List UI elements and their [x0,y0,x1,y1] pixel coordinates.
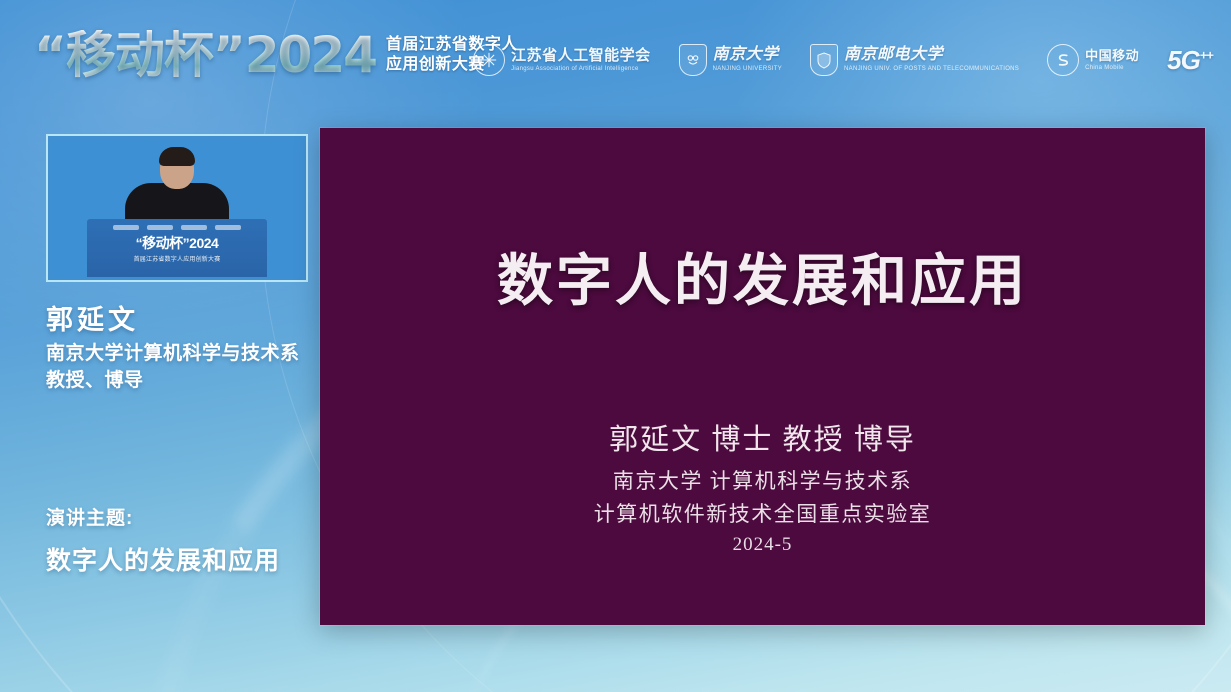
sponsor-name-en: NANJING UNIV. OF POSTS AND TELECOMMUNICA… [844,66,1019,72]
event-year: 2024 [245,26,376,84]
speaker-panel: “移动杯”2024 首届江苏省数字人应用创新大赛 郭延文 南京大学计算机科学与技… [0,118,318,692]
sponsor-name-cn: 江苏省人工智能学会 [511,48,651,64]
snowflake-emblem-icon [473,44,505,76]
podium-logo-1 [113,225,139,230]
china-mobile-icon [1047,44,1079,76]
slide-affiliation: 南京大学 计算机科学与技术系 计算机软件新技术全国重点实验室 [320,465,1205,531]
sponsor-name-en: Jiangsu Association of Artificial Intell… [511,66,651,72]
event-title-quoted: “移动杯” [34,26,245,84]
event-logo: “移动杯”2024 首届江苏省数字人 应用创新大赛 [34,30,518,80]
slide-affiliation-line2: 计算机软件新技术全国重点实验室 [320,498,1205,531]
sponsor-nanjing-university: 南京大学 NANJING UNIVERSITY [679,44,782,76]
podium-logo-3 [181,225,207,230]
sponsor-jiangsu-ai-association: 江苏省人工智能学会 Jiangsu Association of Artific… [473,44,651,76]
event-title-logo: “移动杯”2024 [34,30,376,80]
sponsor-china-mobile: 中国移动 China Mobile [1047,44,1139,76]
speaker-video-thumbnail[interactable]: “移动杯”2024 首届江苏省数字人应用创新大赛 [46,134,308,282]
nju-shield-icon [679,44,707,76]
event-header: “移动杯”2024 首届江苏省数字人 应用创新大赛 [0,0,1231,118]
podium-event-subtitle: 首届江苏省数字人应用创新大赛 [87,254,267,263]
presentation-stage: “移动杯”2024 首届江苏省数字人 应用创新大赛 [0,0,1231,692]
5g-logo: 5G++ [1167,45,1213,76]
speaker-video-content: “移动杯”2024 首届江苏省数字人应用创新大赛 [51,139,303,277]
podium-logo-strip [87,225,267,230]
presentation-slide[interactable]: 数字人的发展和应用 郭延文 博士 教授 博导 南京大学 计算机科学与技术系 计算… [320,128,1205,625]
podium-event-title: “移动杯”2024 [87,236,267,250]
speaker-hair [159,147,195,166]
5g-label: 5G [1167,45,1200,75]
sponsor-name-en: China Mobile [1085,65,1139,71]
slide-byline: 郭延文 博士 教授 博导 [320,416,1205,458]
slide-title: 数字人的发展和应用 [320,236,1205,317]
podium-logo-4 [215,225,241,230]
topic-label: 演讲主题: [46,503,133,530]
slide-date: 2024-5 [320,534,1205,556]
njupt-crest-icon [810,44,838,76]
sponsor-logo-row: 江苏省人工智能学会 Jiangsu Association of Artific… [473,44,1213,76]
sponsor-name-cn: 南京大学 [713,47,782,64]
speaker-title: 南京大学计算机科学与技术系教授、博导 [46,340,306,394]
podium-logo-2 [147,225,173,230]
topic-value: 数字人的发展和应用 [46,541,280,577]
sponsor-name-cn: 中国移动 [1085,49,1139,63]
slide-affiliation-line1: 南京大学 计算机科学与技术系 [320,465,1205,498]
speaker-name: 郭延文 [46,298,139,337]
sponsor-name-en: NANJING UNIVERSITY [713,66,782,72]
sponsor-name-cn: 南京邮电大学 [844,47,1019,64]
podium: “移动杯”2024 首届江苏省数字人应用创新大赛 [87,219,267,277]
sponsor-njupt: 南京邮电大学 NANJING UNIV. OF POSTS AND TELECO… [810,44,1019,76]
